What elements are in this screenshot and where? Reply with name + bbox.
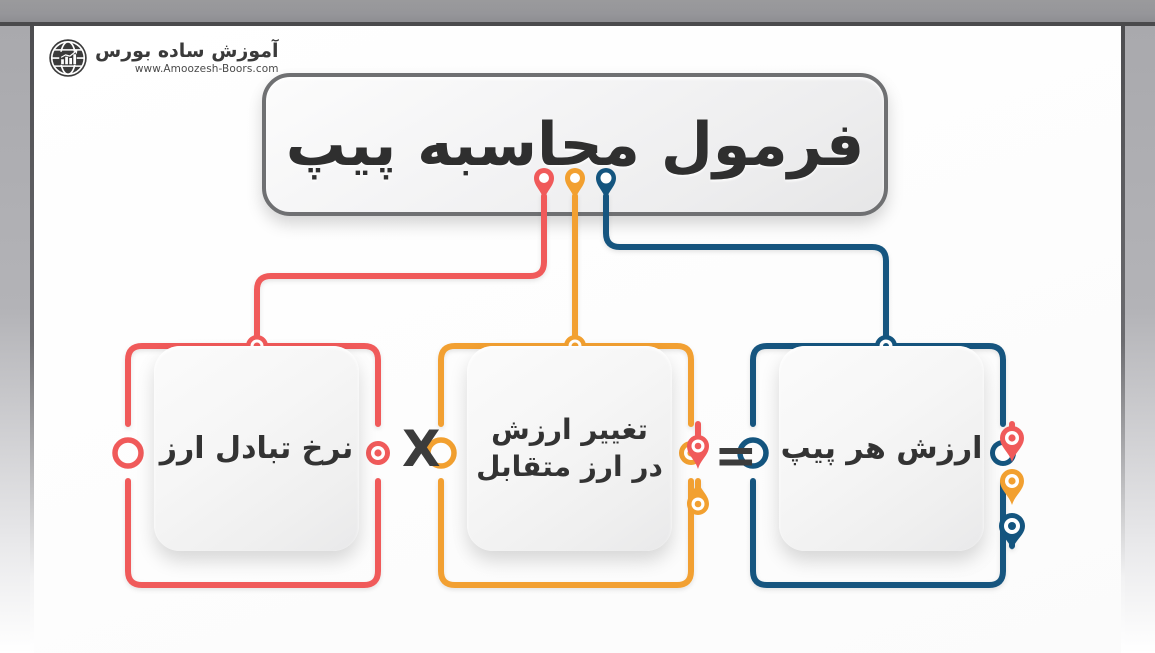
formula-box-pip-value[interactable]: ارزش هر پیپ [779, 346, 984, 551]
formula-box-value-change-line-2: در ارز متقابل [476, 449, 663, 485]
formula-box-exchange-rate[interactable]: نرخ تبادل ارز [154, 346, 359, 551]
frame-band-top [0, 0, 1155, 22]
formula-box-value-change-label: تغییر ارزش در ارز متقابل [476, 412, 663, 485]
frame-line-right [1121, 26, 1125, 653]
operator-multiply: X [402, 420, 439, 478]
frame-band-right [1125, 26, 1155, 653]
pin-title-blue[interactable] [596, 168, 616, 200]
formula-box-value-change[interactable]: تغییر ارزش در ارز متقابل [467, 346, 672, 551]
pin-title-orange-hole [570, 173, 580, 183]
formula-box-exchange-rate-label: نرخ تبادل ارز [160, 429, 353, 468]
formula-boxes: نرخ تبادل ارز تغییر ارزش در ارز متقابل ا… [34, 313, 1121, 613]
pin-title-red-hole [539, 173, 549, 183]
infographic-canvas: آموزش ساده بورس www.Amoozesh-Boors.com ف… [0, 0, 1155, 653]
pin-title-red[interactable] [534, 168, 554, 200]
pin-title-blue-hole [601, 173, 612, 184]
formula-box-value-change-line-1: تغییر ارزش [476, 412, 663, 448]
frame-band-left [0, 26, 30, 653]
pin-title-orange-body [565, 168, 585, 200]
pin-title-orange[interactable] [565, 168, 585, 200]
content-area: آموزش ساده بورس www.Amoozesh-Boors.com ف… [34, 26, 1121, 653]
formula-box-pip-value-label: ارزش هر پیپ [781, 429, 983, 468]
operator-equals: = [714, 426, 758, 486]
pin-title-red-body [534, 168, 554, 200]
